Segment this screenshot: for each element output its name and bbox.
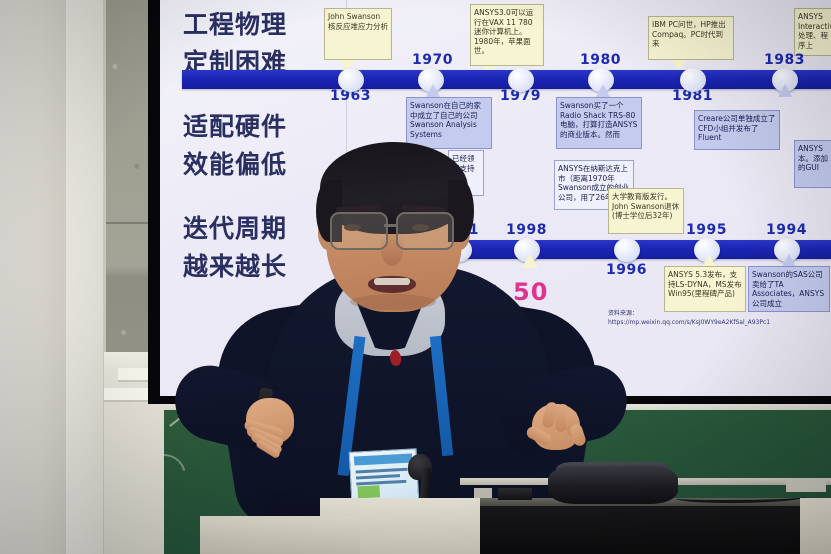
projector-body	[548, 466, 678, 504]
badge-logo	[357, 485, 380, 498]
timeline-year: 1980	[580, 52, 621, 68]
glasses-bridge	[384, 224, 398, 227]
callout-1970: Swanson在自己的家中成立了自己的公司Swanson Analysis Sy…	[406, 97, 492, 149]
wall-notice	[786, 478, 826, 492]
callout-tail	[778, 84, 792, 97]
callout-1995: ANSYS 5.3发布，支持LS-DYNA，MS发布Win95(里程碑产品)	[664, 266, 746, 312]
callout-right-upper: ANSYS Interactive 处理、程序上	[794, 8, 831, 56]
timeline-node	[338, 68, 364, 92]
stone-seam-line	[106, 222, 150, 224]
callout-tail	[596, 84, 610, 97]
callout-1963: John Swanson 核反应堆应力分析	[324, 8, 392, 60]
left-wall	[0, 0, 66, 554]
small-dark-object	[498, 488, 532, 500]
callout-1980: Swanson买了一个Radio Shack TRS-80电脑，打算打造ANSY…	[556, 97, 642, 149]
slide-text-line: 适配硬件	[160, 108, 310, 146]
callout-1994: Swanson的SAS公司卖给了TA Associates，ANSYS公司成立	[748, 266, 830, 312]
glasses-left-lens	[330, 212, 388, 250]
left-hand	[242, 396, 304, 456]
desk-right-panel	[800, 498, 831, 554]
badge-header-bar	[354, 454, 412, 466]
callout-tail	[426, 84, 440, 97]
timeline-year: 1970	[412, 52, 453, 68]
callout-1981: IBM PC问世，HP推出Compaq。PC时代到来	[648, 16, 734, 60]
badge-text-line	[356, 474, 400, 479]
nose	[381, 236, 403, 266]
callout-1983: Creare公司单独成立了CFD小组并发布了Fluent	[694, 110, 780, 150]
timeline-year: 1994	[766, 222, 807, 238]
glasses-right-lens	[396, 212, 454, 250]
badge-text-line	[356, 480, 406, 486]
chin-shadow	[350, 294, 436, 310]
left-wall-panel	[66, 0, 104, 554]
teeth	[374, 278, 410, 285]
timeline-year: 1995	[686, 222, 727, 238]
timeline-node	[680, 68, 706, 92]
callout-right-lower: ANSYS 本。添加的GUI	[794, 140, 831, 188]
desk-front-panel	[470, 506, 822, 554]
callout-1979: ANSYS3.0可以运行在VAX 11 780迷你计算机上。1980年，苹果面世…	[470, 4, 544, 66]
slide-text-line: 工程物理	[160, 6, 310, 44]
timeline-bar-row1	[182, 70, 831, 89]
podium-lower	[200, 516, 360, 554]
right-hand	[522, 400, 596, 462]
lecture-photo-scene: 工程物理 定制困难 适配硬件 效能偏低 迭代周期 越来越长 John Swans…	[0, 0, 831, 554]
timeline-year: 1983	[764, 52, 805, 68]
badge-text-line	[356, 468, 408, 474]
timeline-node	[508, 68, 534, 92]
small-white-object	[474, 488, 492, 498]
